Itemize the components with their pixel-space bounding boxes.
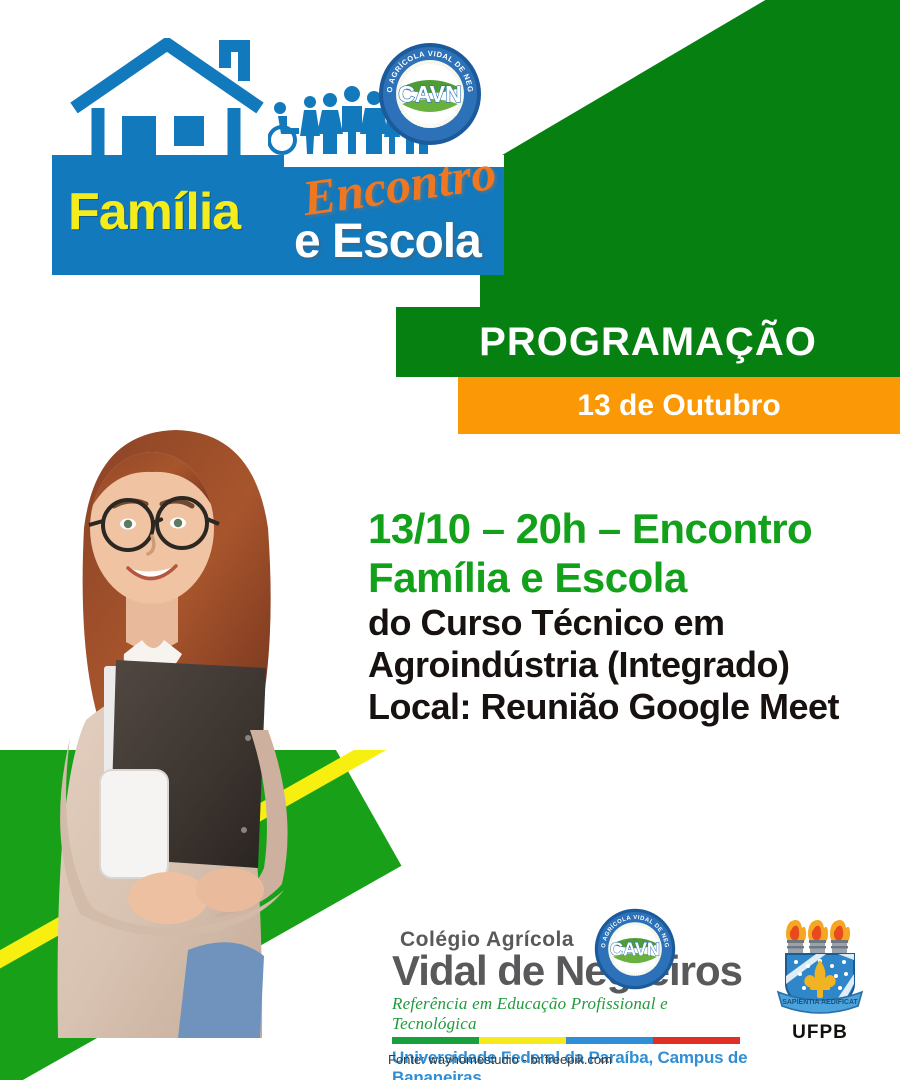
schedule-line-5: Local: Reunião Google Meet bbox=[368, 686, 888, 728]
svg-text:CAVN: CAVN bbox=[398, 81, 461, 107]
schedule-line-4: Agroindústria (Integrado) bbox=[368, 644, 888, 686]
phone bbox=[100, 770, 168, 878]
schedule-line-1: 13/10 – 20h – Encontro bbox=[368, 505, 888, 554]
date-banner: 13 de Outubro bbox=[458, 377, 900, 434]
schedule-line-3: do Curso Técnico em bbox=[368, 602, 888, 644]
ufpb-logo: SAPIENTIA AEDIFICAT UFPB bbox=[772, 916, 868, 1044]
institution-slogan: Referência em Educação Profissional e Te… bbox=[392, 994, 752, 1034]
photo-credit: Fonte: wayhomestudio - br.freepik.com bbox=[388, 1052, 612, 1067]
torch-icon bbox=[786, 920, 806, 953]
ufpb-label: UFPB bbox=[772, 1022, 868, 1044]
color-bar-blue bbox=[566, 1037, 653, 1044]
date-label: 13 de Outubro bbox=[577, 389, 780, 423]
wheelchair-icon bbox=[269, 102, 299, 153]
logo-word-familia: Família bbox=[68, 186, 240, 238]
institution-name: Vidal de Negreiros bbox=[392, 950, 752, 992]
green-triangle-top-right bbox=[480, 0, 900, 330]
color-bar-red bbox=[653, 1037, 740, 1044]
color-bar-green bbox=[392, 1037, 479, 1044]
programacao-label: PROGRAMAÇÃO bbox=[479, 320, 817, 365]
hand bbox=[128, 872, 208, 924]
hand-2 bbox=[196, 868, 264, 912]
ufpb-emblem: SAPIENTIA AEDIFICAT bbox=[772, 916, 868, 1016]
house-icon bbox=[62, 38, 282, 173]
svg-text:SAPIENTIA AEDIFICAT: SAPIENTIA AEDIFICAT bbox=[782, 999, 858, 1006]
svg-text:CAVN: CAVN bbox=[610, 939, 660, 959]
smiling-student-photo bbox=[0, 378, 384, 1038]
programacao-banner: PROGRAMAÇÃO bbox=[396, 307, 900, 377]
schedule-line-2: Família e Escola bbox=[368, 554, 888, 603]
top-right-flag-decoration bbox=[480, 0, 900, 330]
torch-icon bbox=[830, 920, 850, 953]
jeans bbox=[178, 942, 264, 1038]
color-bar-yellow bbox=[479, 1037, 566, 1044]
schedule-text-block: 13/10 – 20h – Encontro Família e Escola … bbox=[368, 505, 888, 728]
cavn-seal-footer: COLÉGIO AGRÍCOLA VIDAL DE NEGREIROS BANA… bbox=[594, 908, 676, 990]
poster-canvas: Família e Escola Encontro COLÉGIO AGRÍCO… bbox=[0, 0, 900, 1080]
cavn-seal-header: COLÉGIO AGRÍCOLA VIDAL DE NEGREIROS BANA… bbox=[378, 42, 482, 146]
torch-icon bbox=[808, 920, 828, 953]
institution-color-bar bbox=[392, 1037, 740, 1044]
logo-word-escola: e Escola bbox=[294, 218, 481, 266]
